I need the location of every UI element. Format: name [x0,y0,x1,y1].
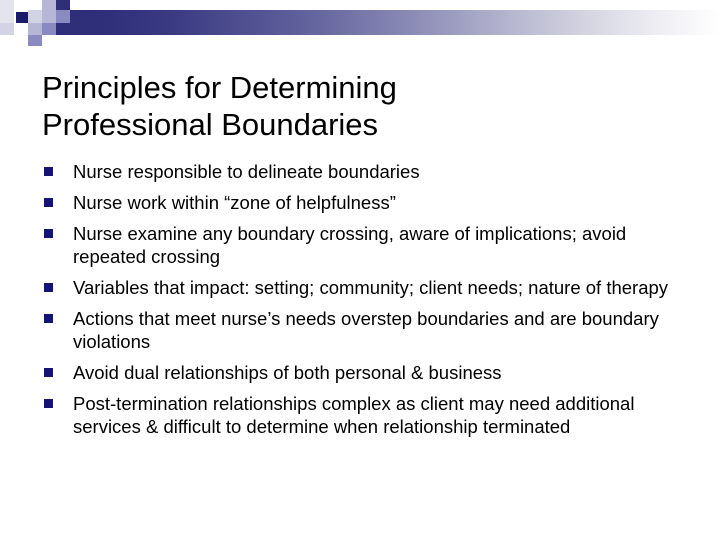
list-item-label: Avoid dual relationships of both persona… [73,361,672,384]
decor-square-c1 [0,23,14,35]
decor-square-a2 [14,0,28,10]
list-item-label: Variables that impact: setting; communit… [73,276,672,299]
list-item: Variables that impact: setting; communit… [44,276,672,299]
header-gradient-bar [100,10,720,35]
decor-square-b6 [70,10,100,23]
square-bullet-icon [44,399,53,408]
decor-square-c2 [14,23,28,35]
list-item-label: Nurse work within “zone of helpfulness” [73,191,672,214]
slide-title: Principles for Determining Professional … [42,69,682,143]
decor-square-c3 [28,23,42,35]
list-item-label: Post-termination relationships complex a… [73,392,672,438]
square-bullet-icon [44,368,53,377]
decor-square-d3 [42,35,100,46]
slide-canvas: Principles for Determining Professional … [0,0,720,540]
decor-square-a4 [42,0,56,10]
decor-square-d1 [0,35,28,46]
square-bullet-icon [44,167,53,176]
decor-square-a1 [0,0,14,10]
list-item-label: Nurse responsible to delineate boundarie… [73,160,672,183]
decor-square-b5 [56,10,70,23]
square-bullet-icon [44,283,53,292]
list-item-label: Actions that meet nurse’s needs overstep… [73,307,672,353]
decor-square-b3 [28,10,42,23]
decor-square-a3 [28,0,42,10]
slide-bullet-list: Nurse responsible to delineate boundarie… [44,160,672,446]
decor-square-c4 [42,23,56,35]
list-item: Avoid dual relationships of both persona… [44,361,672,384]
square-bullet-icon [44,229,53,238]
list-item: Nurse responsible to delineate boundarie… [44,160,672,183]
list-item-label: Nurse examine any boundary crossing, awa… [73,222,672,268]
square-bullet-icon [44,198,53,207]
slide-header-decoration [0,0,720,46]
list-item: Nurse examine any boundary crossing, awa… [44,222,672,268]
slide-title-line-2: Professional Boundaries [42,106,682,143]
decor-square-a5 [56,0,70,10]
decor-square-b1 [0,10,14,23]
square-bullet-icon [44,314,53,323]
decor-square-b4 [42,10,56,23]
decor-square-c5 [56,23,100,35]
list-item: Nurse work within “zone of helpfulness” [44,191,672,214]
list-item: Post-termination relationships complex a… [44,392,672,438]
list-item: Actions that meet nurse’s needs overstep… [44,307,672,353]
decor-square-d2 [28,35,42,46]
slide-title-line-1: Principles for Determining [42,69,682,106]
